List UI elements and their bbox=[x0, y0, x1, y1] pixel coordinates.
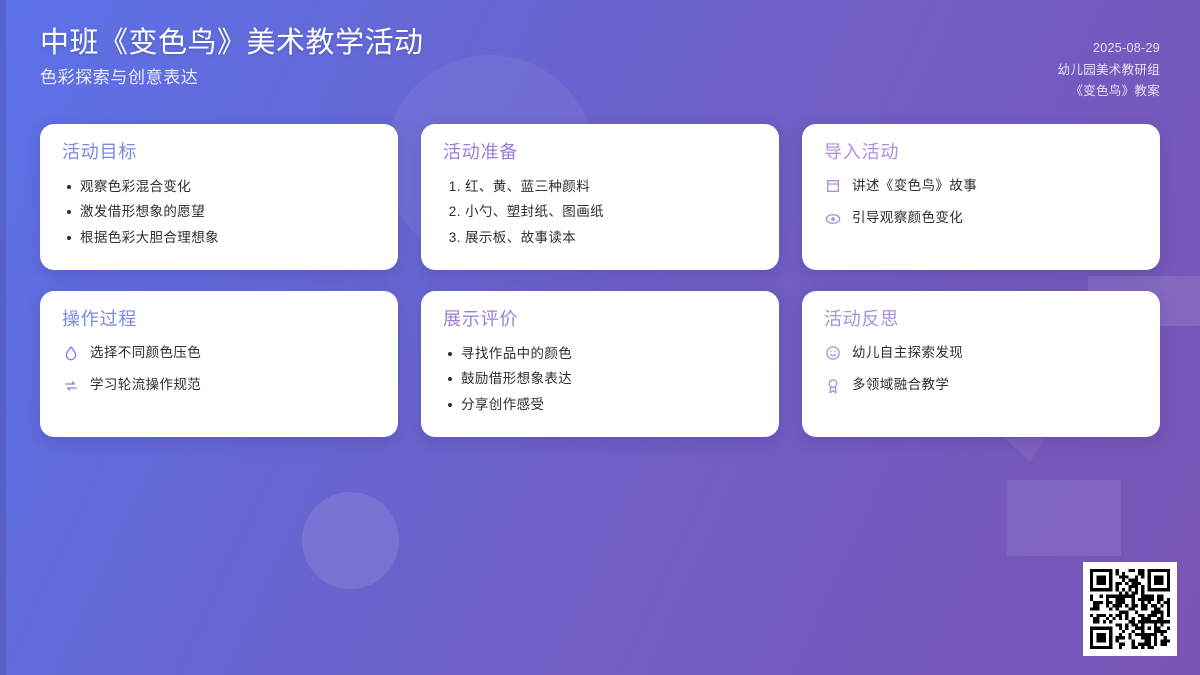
award-icon bbox=[824, 377, 841, 394]
page-title: 中班《变色鸟》美术教学活动 bbox=[40, 26, 424, 61]
cards-grid: 活动目标观察色彩混合变化激发借形想象的愿望根据色彩大胆合理想象活动准备红、黄、蓝… bbox=[40, 124, 1160, 437]
droplet-icon bbox=[62, 345, 79, 362]
list-item: 讲述《变色鸟》故事 bbox=[824, 177, 1138, 196]
list-item: 引导观察颜色变化 bbox=[824, 209, 1138, 228]
list-item: 激发借形想象的愿望 bbox=[80, 202, 376, 223]
list-item-label: 学习轮流操作规范 bbox=[90, 376, 201, 395]
icon-list: 讲述《变色鸟》故事引导观察颜色变化 bbox=[824, 177, 1138, 229]
icon-list: 幼儿自主探索发现多领域融合教学 bbox=[824, 344, 1138, 396]
card-title: 导入活动 bbox=[824, 142, 1138, 164]
list-item: 根据色彩大胆合理想象 bbox=[80, 228, 376, 249]
list-item-label: 幼儿自主探索发现 bbox=[852, 344, 963, 363]
list-item: 多领域融合教学 bbox=[824, 376, 1138, 395]
card-title: 操作过程 bbox=[62, 309, 376, 331]
book-icon bbox=[824, 178, 841, 195]
icon-list: 选择不同颜色压色学习轮流操作规范 bbox=[62, 344, 376, 396]
card-4: 操作过程选择不同颜色压色学习轮流操作规范 bbox=[40, 291, 398, 437]
slide-header: 中班《变色鸟》美术教学活动 色彩探索与创意表达 2025-08-29 幼儿园美术… bbox=[40, 26, 1160, 103]
slide-root: 中班《变色鸟》美术教学活动 色彩探索与创意表达 2025-08-29 幼儿园美术… bbox=[0, 0, 1200, 675]
decorative-circle-middle bbox=[302, 492, 399, 589]
qr-code-image bbox=[1090, 569, 1170, 649]
card-5: 展示评价寻找作品中的颜色鼓励借形想象表达分享创作感受 bbox=[421, 291, 779, 437]
decorative-left-edge bbox=[0, 0, 6, 675]
eye-icon bbox=[824, 210, 841, 227]
list-item: 选择不同颜色压色 bbox=[62, 344, 376, 363]
list-item: 幼儿自主探索发现 bbox=[824, 344, 1138, 363]
list-item: 观察色彩混合变化 bbox=[80, 177, 376, 198]
card-title: 活动反思 bbox=[824, 309, 1138, 331]
page-subtitle: 色彩探索与创意表达 bbox=[40, 67, 424, 89]
list-item: 展示板、故事读本 bbox=[465, 228, 757, 249]
repeat-icon bbox=[62, 377, 79, 394]
list-item: 小勺、塑封纸、图画纸 bbox=[465, 202, 757, 223]
card-title: 展示评价 bbox=[443, 309, 757, 331]
card-1: 活动目标观察色彩混合变化激发借形想象的愿望根据色彩大胆合理想象 bbox=[40, 124, 398, 270]
list-item: 红、黄、蓝三种颜料 bbox=[465, 177, 757, 198]
list-item: 分享创作感受 bbox=[461, 395, 757, 416]
list-item: 学习轮流操作规范 bbox=[62, 376, 376, 395]
card-6: 活动反思幼儿自主探索发现多领域融合教学 bbox=[802, 291, 1160, 437]
qr-code[interactable] bbox=[1083, 562, 1177, 656]
list-item-label: 引导观察颜色变化 bbox=[852, 209, 963, 228]
decorative-square bbox=[1007, 480, 1121, 556]
title-block: 中班《变色鸟》美术教学活动 色彩探索与创意表达 bbox=[40, 26, 424, 89]
meta-date: 2025-08-29 bbox=[1058, 38, 1160, 60]
card-title: 活动准备 bbox=[443, 142, 757, 164]
bullet-list: 观察色彩混合变化激发借形想象的愿望根据色彩大胆合理想象 bbox=[62, 177, 376, 249]
list-item-label: 讲述《变色鸟》故事 bbox=[852, 177, 977, 196]
bullet-list: 寻找作品中的颜色鼓励借形想象表达分享创作感受 bbox=[443, 344, 757, 416]
card-title: 活动目标 bbox=[62, 142, 376, 164]
list-item-label: 多领域融合教学 bbox=[852, 376, 949, 395]
meta-organization: 幼儿园美术教研组 bbox=[1058, 60, 1160, 82]
card-3: 导入活动讲述《变色鸟》故事引导观察颜色变化 bbox=[802, 124, 1160, 270]
list-item-label: 选择不同颜色压色 bbox=[90, 344, 201, 363]
header-meta: 2025-08-29 幼儿园美术教研组 《变色鸟》教案 bbox=[1058, 26, 1160, 103]
meta-document: 《变色鸟》教案 bbox=[1058, 81, 1160, 103]
numbered-list: 红、黄、蓝三种颜料小勺、塑封纸、图画纸展示板、故事读本 bbox=[443, 177, 757, 249]
decorative-triangle bbox=[1005, 438, 1045, 462]
card-2: 活动准备红、黄、蓝三种颜料小勺、塑封纸、图画纸展示板、故事读本 bbox=[421, 124, 779, 270]
smile-icon bbox=[824, 345, 841, 362]
list-item: 鼓励借形想象表达 bbox=[461, 369, 757, 390]
list-item: 寻找作品中的颜色 bbox=[461, 344, 757, 365]
